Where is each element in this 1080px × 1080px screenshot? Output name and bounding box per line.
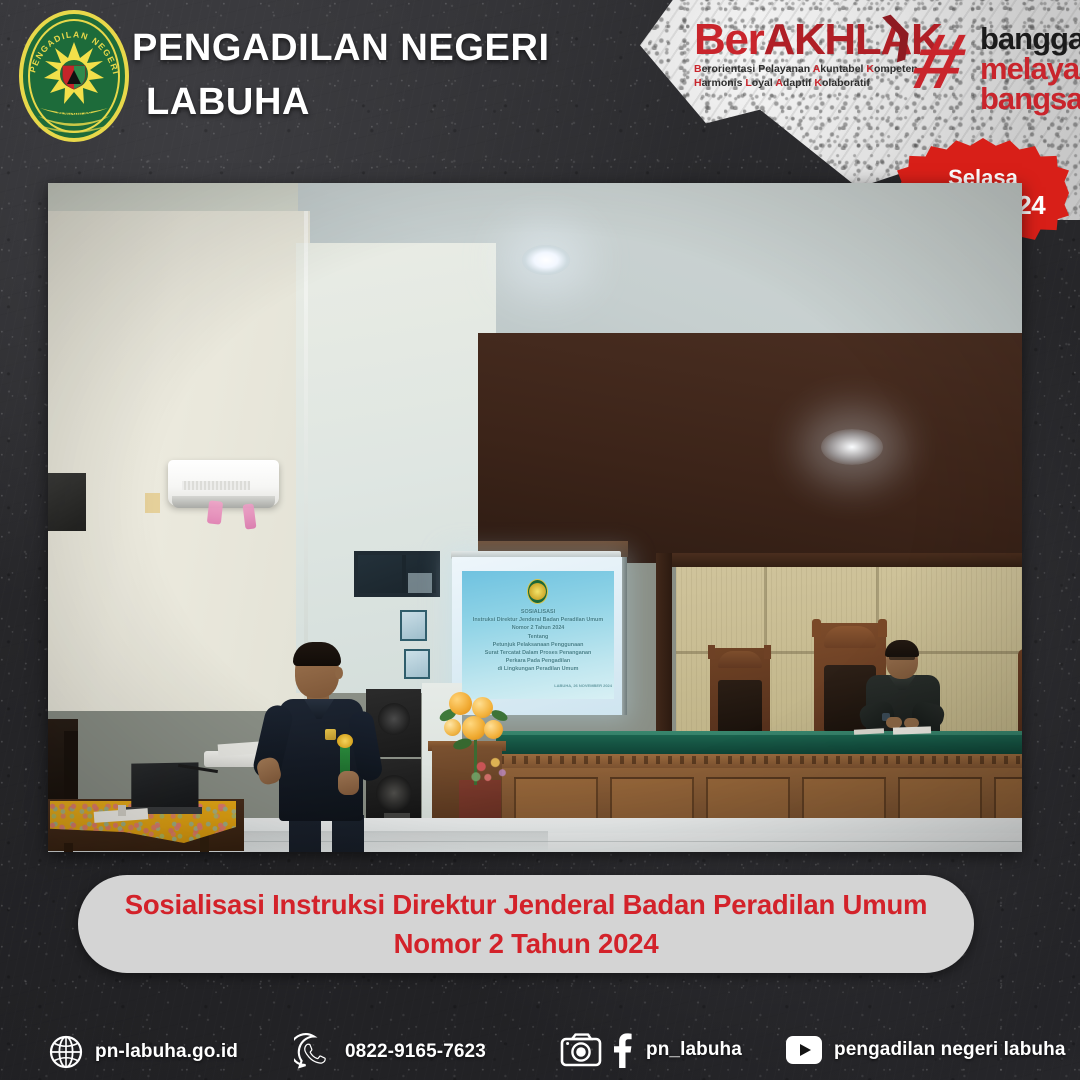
framed-certificate-2: [404, 649, 430, 679]
facebook-icon: [611, 1032, 633, 1068]
loudspeaker-bottom-cone: [376, 775, 412, 811]
bench-top-frame: [663, 553, 1022, 567]
seated-official-hand-1: [886, 717, 902, 728]
presenter-hand-right: [338, 771, 359, 795]
bench-green-highlight: [496, 731, 1022, 735]
bench-left-frame: [656, 553, 672, 735]
rose-3: [462, 716, 486, 740]
framed-certificate-1: [400, 610, 427, 641]
footer-bar: pn-labuha.go.id 0822-9165-7623: [0, 1018, 1080, 1080]
ac-ribbon-1: [207, 500, 223, 524]
wall-right-dark: [478, 333, 1022, 563]
berakhlak-subtitle-line-1: Berorientasi Pelayanan Akuntabel Kompete…: [694, 63, 909, 76]
table-leg-1: [64, 843, 73, 852]
slide-court-seal: [527, 579, 548, 604]
bench-dentil-trim: [500, 756, 1022, 764]
microphone-head: [337, 734, 353, 748]
whatsapp-icon: [294, 1032, 334, 1072]
chair-left-crest: [718, 651, 762, 668]
berakhlak-subtitle-line-2: Harmonis Loyal Adaptif Kolaboratif: [694, 77, 909, 90]
chair-center-crest: [824, 626, 876, 648]
presenter-ear: [335, 667, 343, 679]
loudspeaker-top-cone: [378, 703, 410, 735]
chair-left-post-2: [764, 645, 771, 659]
rose-4: [484, 720, 503, 739]
slide-line-3: Tentang: [464, 633, 612, 641]
presenter-badge: [325, 729, 336, 740]
screen-right-edge: [622, 557, 627, 715]
page-title: PENGADILAN NEGERI LABUHA: [132, 22, 652, 130]
bangga-line-3: bangsa: [980, 84, 1080, 114]
caption-line-1: Sosialisasi Instruksi Direktur Jenderal …: [125, 885, 928, 924]
title-line-2: LABUHA: [132, 76, 652, 130]
caption-banner: Sosialisasi Instruksi Direktur Jenderal …: [78, 875, 974, 973]
slide-line-5: Surat Tercatat Dalam Proses Penanganan: [464, 649, 612, 657]
berakhlak-logo: BerAKHLAK ❯ Berorientasi Pelayanan Akunt…: [694, 20, 909, 90]
whatsapp-label: 0822-9165-7623: [345, 1041, 486, 1063]
wall-alcove: [48, 473, 86, 531]
bangga-wordmark: bangga melayan bangsa: [980, 24, 1080, 113]
youtube-icon: [785, 1033, 823, 1067]
bench-paper-1: [893, 726, 931, 734]
court-seal-logo: PENGADILAN NEGERI LABUHA PENGADILAN: [14, 8, 134, 144]
wall-switch: [145, 493, 160, 513]
ac-grille: [182, 481, 250, 490]
caption-line-2: Nomor 2 Tahun 2024: [394, 924, 659, 963]
chair-center-post-1: [812, 619, 821, 637]
document-clip: [118, 805, 126, 816]
footer-item-social[interactable]: pn_labuha: [560, 1032, 742, 1068]
title-line-1: PENGADILAN NEGERI: [132, 27, 550, 69]
slide-title: SOSIALISASI: [464, 608, 612, 616]
slide-footer: LABUHA, 26 NOVEMBER 2024: [528, 683, 612, 688]
poster-canvas: PENGADILAN NEGERI LABUHA PENGADILAN PENG…: [0, 0, 1080, 1080]
berakhlak-subtitle: Berorientasi Pelayanan Akuntabel Kompete…: [694, 63, 909, 90]
wall-corner-seam: [304, 211, 308, 711]
slide-text: SOSIALISASI Instruksi Direktur Jenderal …: [464, 608, 612, 674]
ceiling-light-1: [522, 245, 570, 275]
chair-left-cushion: [718, 680, 762, 734]
youtube-label: pengadilan negeri labuha: [834, 1039, 1066, 1061]
niche-divider: [402, 555, 406, 593]
bangga-line-2: melayan: [980, 54, 1080, 84]
svg-text:PENGADILAN: PENGADILAN: [57, 112, 91, 117]
ceiling-light-2: [821, 429, 883, 465]
rose-2: [472, 697, 493, 718]
berakhlak-wordmark: BerAKHLAK: [694, 20, 909, 60]
slide-line-4: Petunjuk Pelaksanaan Penggunaan: [464, 641, 612, 649]
ac-vent: [172, 496, 275, 508]
chair-center-post-2: [878, 619, 887, 637]
chair-left-post-1: [708, 645, 715, 659]
slide-line-6: Perkara Pada Pengadilan: [464, 657, 612, 665]
footer-item-website[interactable]: pn-labuha.go.id: [48, 1034, 238, 1070]
slide-line-2: Nomor 2 Tahun 2024: [464, 624, 612, 632]
seated-official-glasses: [889, 654, 915, 660]
judge-chair-right: [1018, 649, 1022, 733]
event-photo: SOSIALISASI Instruksi Direktur Jenderal …: [48, 183, 1022, 852]
small-flower-cluster: [468, 753, 512, 787]
footer-item-whatsapp[interactable]: 0822-9165-7623: [294, 1032, 486, 1072]
niche-glass: [408, 573, 432, 593]
instagram-icon: [560, 1033, 602, 1067]
globe-icon: [48, 1034, 84, 1070]
rose-5: [444, 719, 461, 736]
footer-item-youtube[interactable]: pengadilan negeri labuha: [785, 1033, 1066, 1067]
bangga-line-1: bangga: [980, 24, 1080, 54]
laptop-screen: [131, 762, 198, 809]
slide-line-7: di Lingkungan Peradilan Umum: [464, 665, 612, 673]
instagram-facebook-label: pn_labuha: [646, 1039, 742, 1061]
slide-line-1: Instruksi Direktur Jenderal Badan Peradi…: [464, 616, 612, 624]
presenter-hair: [293, 642, 341, 666]
rose-1: [449, 692, 472, 715]
website-label: pn-labuha.go.id: [95, 1041, 238, 1063]
berakhlak-word-ber: Ber: [694, 15, 763, 64]
